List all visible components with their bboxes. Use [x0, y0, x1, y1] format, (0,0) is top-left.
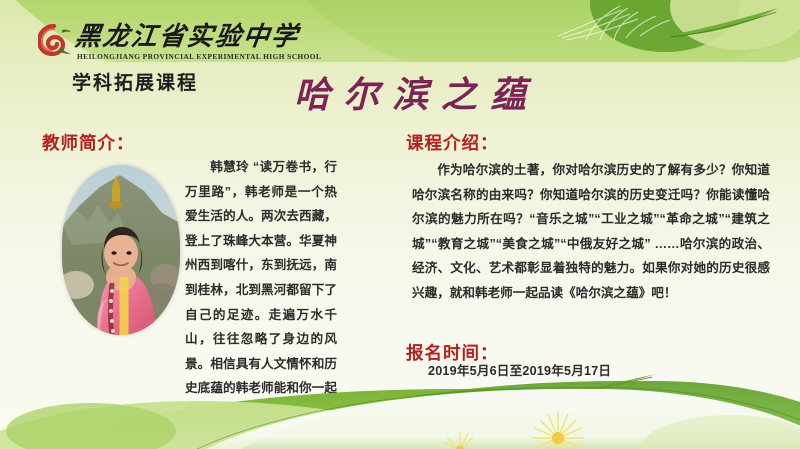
dandelion-sunburst-small-icon [440, 430, 480, 449]
dandelion-sunburst-icon [530, 410, 586, 449]
course-description-text: 作为哈尔滨的土著，你对哈尔滨历史的了解有多少？你知道哈尔滨名称的由来吗？你知道哈… [412, 158, 770, 306]
program-label: 学科拓展课程 [72, 68, 198, 95]
leaf-sprig-icon [660, 6, 780, 40]
teacher-portrait-photo [62, 165, 180, 335]
poster-title: 哈尔滨之蕴 [294, 66, 539, 118]
teacher-section-heading: 教师简介： [42, 130, 135, 155]
red-swirl-phoenix-icon [38, 24, 72, 56]
course-poster: 黑龙江省实验中学 HEILONGJIANG PROVINCIAL EXPERIM… [0, 0, 800, 449]
white-wisp-flourish-icon [556, 2, 676, 42]
bottom-banner-decoration [0, 363, 800, 449]
school-name-cn: 黑龙江省实验中学 [73, 24, 318, 50]
school-name-en: HEILONGJIANG PROVINCIAL EXPERIMENTAL HIG… [77, 53, 321, 61]
school-logo: 黑龙江省实验中学 HEILONGJIANG PROVINCIAL EXPERIM… [38, 24, 317, 61]
course-section-heading: 课程介绍： [406, 130, 499, 155]
